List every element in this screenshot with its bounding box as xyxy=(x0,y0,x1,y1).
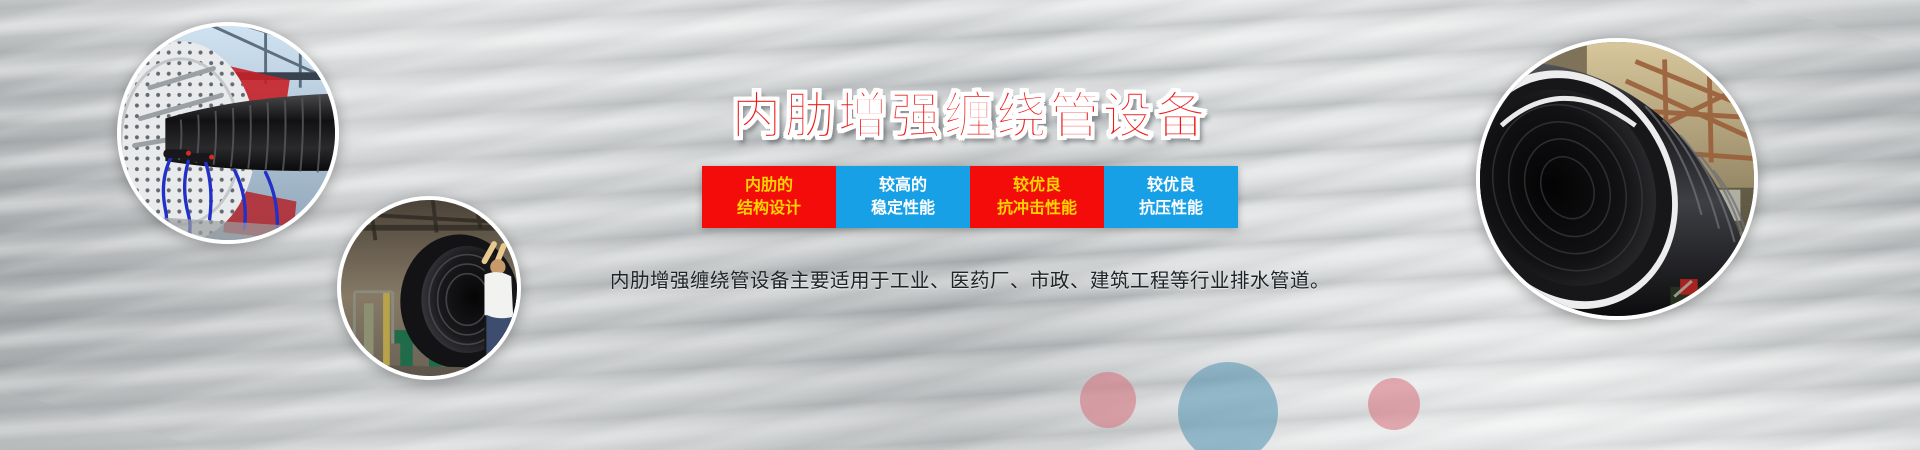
feature-badge-4-line1: 较优良 xyxy=(1110,174,1232,197)
decorative-circle-pink-left xyxy=(1080,372,1136,428)
feature-badge-1-line1: 内肋的 xyxy=(708,174,830,197)
large-black-corrugated-pipe-opening-photo xyxy=(1476,38,1758,320)
feature-badge-1[interactable]: 内肋的 结构设计 xyxy=(702,166,836,228)
feature-badge-2[interactable]: 较高的 稳定性能 xyxy=(836,166,970,228)
feature-badge-2-line1: 较高的 xyxy=(842,174,964,197)
feature-badge-4[interactable]: 较优良 抗压性能 xyxy=(1104,166,1238,228)
decorative-circle-pink-right xyxy=(1368,378,1420,430)
worker-with-large-pipe-photo xyxy=(337,196,521,380)
feature-badge-group: 内肋的 结构设计 较高的 稳定性能 较优良 抗冲击性能 较优良 抗压性能 xyxy=(702,166,1238,228)
corrugated-pipe-winding-machine-photo xyxy=(117,22,339,244)
product-banner: 内肋增强缠绕管设备 内肋的 结构设计 较高的 稳定性能 较优良 抗冲击性能 较优… xyxy=(0,0,1920,450)
feature-badge-3-line2: 抗冲击性能 xyxy=(976,197,1098,220)
page-title: 内肋增强缠绕管设备 xyxy=(575,88,1365,144)
feature-badge-1-line2: 结构设计 xyxy=(708,197,830,220)
feature-badge-3-line1: 较优良 xyxy=(976,174,1098,197)
feature-badge-2-line2: 稳定性能 xyxy=(842,197,964,220)
feature-badge-3[interactable]: 较优良 抗冲击性能 xyxy=(970,166,1104,228)
feature-badge-4-line2: 抗压性能 xyxy=(1110,197,1232,220)
banner-description: 内肋增强缠绕管设备主要适用于工业、医药厂、市政、建筑工程等行业排水管道。 xyxy=(575,266,1365,295)
banner-text-content: 内肋增强缠绕管设备 内肋的 结构设计 较高的 稳定性能 较优良 抗冲击性能 较优… xyxy=(575,88,1365,296)
